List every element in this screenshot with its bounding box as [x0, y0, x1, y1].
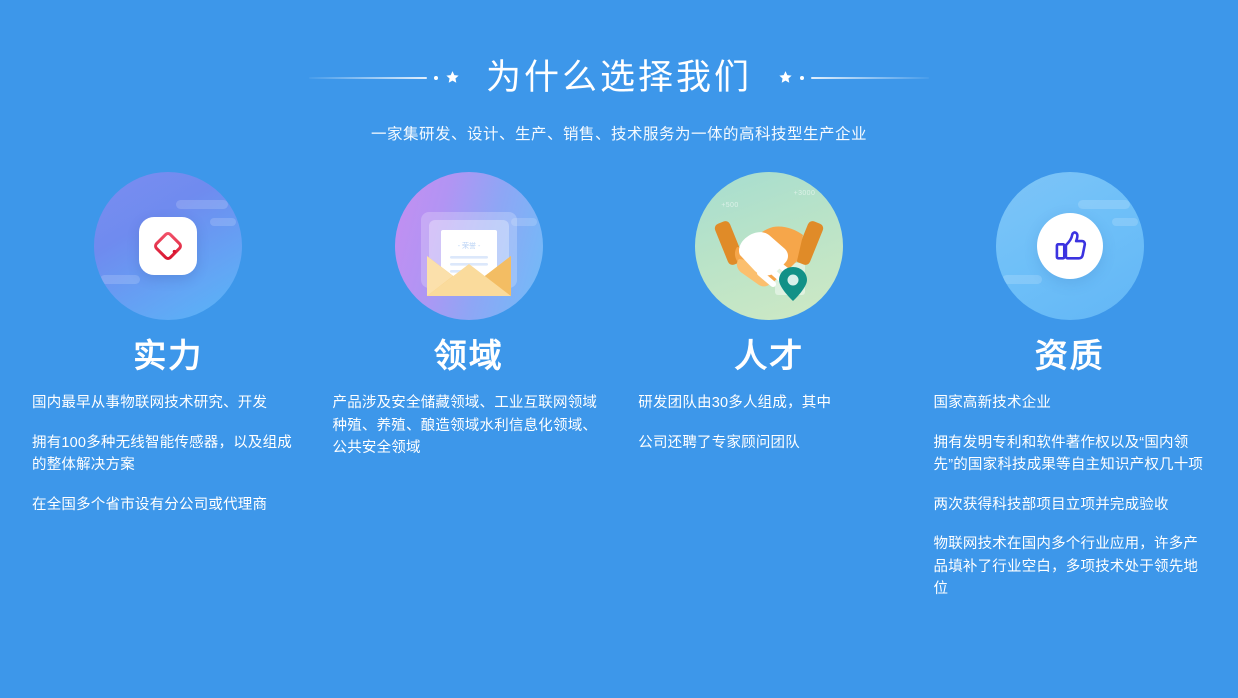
star-icon-left	[445, 70, 460, 85]
envelope-certificate-icon: - 荣誉 -	[405, 190, 533, 302]
column-list: 产品涉及安全储藏领域、工业互联网领域种殖、养殖、酿造领域水利信息化领域、公共安全…	[333, 392, 606, 459]
list-item: 拥有发明专利和软件著作权以及“国内领先”的国家科技成果等自主知识产权几十项	[934, 432, 1207, 477]
page-subtitle: 一家集研发、设计、生产、销售、技术服务为一体的高科技型生产企业	[0, 122, 1238, 144]
column-heading: 领域	[434, 338, 504, 374]
decorative-rule-left	[309, 77, 427, 79]
list-item: 物联网技术在国内多个行业应用，许多产品填补了行业空白，多项技术处于领先地位	[934, 533, 1207, 600]
decorative-dot-right	[800, 76, 804, 80]
column-heading: 资质	[1035, 338, 1105, 374]
list-item: 公司还聘了专家顾问团队	[638, 432, 900, 454]
list-item: 两次获得科技部项目立项并完成验收	[934, 494, 1207, 516]
diamond-badge-icon	[151, 229, 185, 263]
icon-inner: - 荣誉 -	[395, 172, 543, 320]
icon-tile	[139, 217, 197, 275]
column-heading: 人才	[734, 338, 804, 374]
icon-wrap-field: - 荣誉 -	[395, 172, 543, 320]
column-heading: 实力	[133, 338, 203, 374]
section-header: 为什么选择我们 一家集研发、设计、生产、销售、技术服务为一体的高科技型生产企业	[0, 0, 1238, 144]
icon-wrap-strength	[94, 172, 242, 320]
icon-circle	[1037, 213, 1103, 279]
icon-wrap-qualification	[996, 172, 1144, 320]
icon-inner	[996, 172, 1144, 320]
icon-inner	[94, 172, 242, 320]
star-icon-right	[778, 70, 793, 85]
feature-column-talent: +500 +3000	[619, 172, 920, 601]
icon-wrap-talent: +500 +3000	[695, 172, 843, 320]
icon-inner	[695, 172, 843, 320]
svg-text:- 荣誉 -: - 荣誉 -	[457, 241, 480, 250]
list-item: 产品涉及安全储藏领域、工业互联网领域种殖、养殖、酿造领域水利信息化领域、公共安全…	[333, 392, 606, 459]
list-item: 拥有100多种无线智能传感器，以及组成的整体解决方案	[32, 432, 305, 477]
list-item: 国家高新技术企业	[934, 392, 1207, 414]
thumbs-up-icon	[1052, 228, 1088, 264]
column-list: 国家高新技术企业 拥有发明专利和软件著作权以及“国内领先”的国家科技成果等自主知…	[934, 392, 1207, 600]
list-item: 国内最早从事物联网技术研究、开发	[32, 392, 305, 414]
decorative-rule-right	[811, 77, 929, 79]
handshake-location-icon	[707, 191, 831, 301]
feature-column-strength: 实力 国内最早从事物联网技术研究、开发 拥有100多种无线智能传感器，以及组成的…	[18, 172, 319, 601]
list-item: 研发团队由30多人组成，其中	[638, 392, 900, 414]
title-row: 为什么选择我们	[0, 60, 1238, 95]
column-list: 研发团队由30多人组成，其中 公司还聘了专家顾问团队	[638, 392, 900, 454]
feature-columns: 实力 国内最早从事物联网技术研究、开发 拥有100多种无线智能传感器，以及组成的…	[0, 172, 1238, 601]
page-title: 为什么选择我们	[486, 60, 752, 95]
column-list: 国内最早从事物联网技术研究、开发 拥有100多种无线智能传感器，以及组成的整体解…	[32, 392, 305, 516]
feature-column-qualification: 资质 国家高新技术企业 拥有发明专利和软件著作权以及“国内领先”的国家科技成果等…	[920, 172, 1221, 601]
list-item: 在全国多个省市设有分公司或代理商	[32, 494, 305, 516]
feature-column-field: - 荣誉 - 领域 产品涉及安全储藏领域、工业互联网领域种殖、养殖、酿造领域水利…	[319, 172, 620, 601]
decorative-dot-left	[434, 76, 438, 80]
